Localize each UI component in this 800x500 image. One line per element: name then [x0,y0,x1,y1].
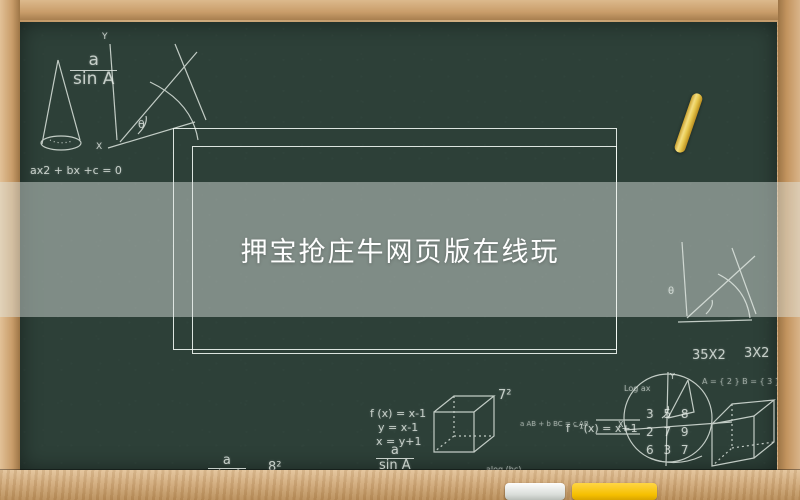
long-division-bracket [596,420,640,434]
wireframe-cube-left [434,396,494,452]
title-banner: 押宝抢庄牛网页版在线玩 [0,182,800,317]
wireframe-cube-right [712,400,774,466]
eraser-white [505,483,565,500]
wood-frame-top [0,0,800,20]
cone-drawing [41,60,81,150]
page-stage: asin A Y X θ ax2 + bx +c = 0 θ f (x) = x… [0,0,800,500]
page-title: 押宝抢庄牛网页版在线玩 [241,230,560,269]
chalk-ledge [0,470,800,500]
eraser-yellow [572,483,657,500]
circle-axes-drawing [624,372,732,466]
